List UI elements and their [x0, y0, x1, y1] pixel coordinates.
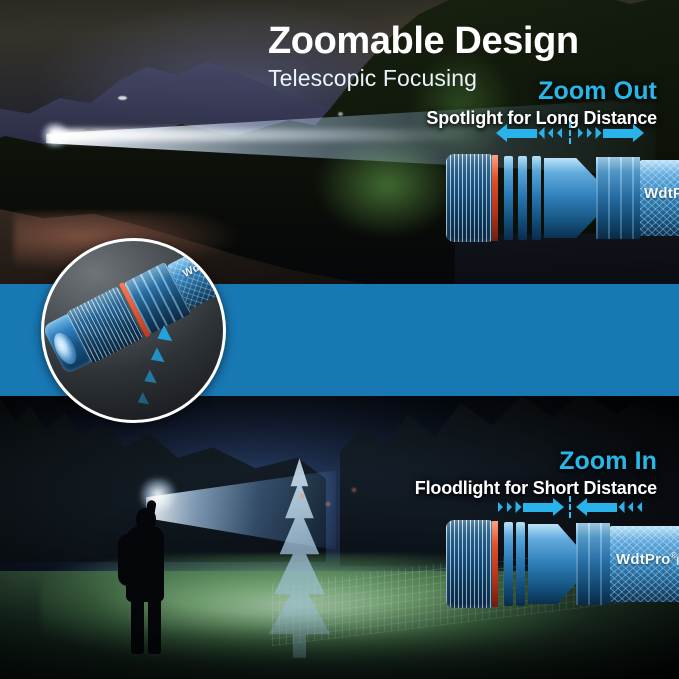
arrow-group-left-out — [470, 120, 569, 146]
chevron-right-icon — [515, 501, 521, 513]
product-feature-image: Zoom Out Spotlight for Long Distance — [0, 0, 679, 679]
chevron-left-icon — [628, 502, 633, 512]
chevron-right-icon — [595, 127, 601, 139]
chevron-left-icon — [548, 128, 553, 138]
flashlight-groove-ring — [532, 156, 541, 240]
flashlight-extended: WdtPro® — [446, 152, 679, 244]
chevron-left-icon — [557, 128, 562, 138]
arrow-tip-right-icon — [553, 498, 564, 516]
flashlight-retracted: WdtPro® IS — [446, 518, 679, 610]
arrow-tip-left-icon — [496, 124, 507, 142]
flashlight-red-accent-ring — [492, 155, 498, 241]
chevron-right-icon — [587, 128, 592, 138]
flashlight-groove-ring — [518, 156, 527, 240]
brand-label: WdtPro® — [644, 185, 679, 202]
zoom-out-arrow-indicator — [470, 120, 670, 146]
chevron-right-icon — [578, 128, 583, 138]
zoom-in-arrow-indicator — [470, 494, 670, 520]
flashlight-zoom-cone — [528, 524, 576, 604]
arrow-group-right-in — [571, 494, 670, 520]
flashlight-groove-ring — [516, 522, 525, 606]
chevron-left-icon — [637, 502, 642, 512]
banner-title: Zoomable Design — [268, 22, 579, 60]
chevron-right-icon — [507, 502, 512, 512]
product-closeup-inset: WdtPro — [41, 238, 226, 423]
arrow-tip-left-icon — [576, 498, 587, 516]
chevron-left-icon — [618, 501, 624, 513]
spotlight-beam-core — [50, 129, 480, 141]
bar-arrow-right — [603, 124, 644, 142]
flashlight-zoom-cone — [544, 158, 596, 238]
chevron-motion-icon — [141, 370, 157, 388]
brand-name: WdtPro — [644, 185, 679, 202]
brand-name: WdtPro — [616, 551, 671, 568]
chevron-motion-icon — [147, 347, 164, 367]
bar-arrow-left — [496, 124, 537, 142]
chevron-motion-icon — [135, 392, 149, 408]
flashlight-barrel-section — [576, 523, 610, 605]
chevron-left-icon — [538, 127, 544, 139]
chevron-right-icon — [498, 502, 503, 512]
arrow-stem-right — [587, 503, 617, 512]
closeup-lens — [49, 329, 80, 367]
bar-arrow-right-in — [523, 498, 564, 516]
flashlight-bezel-knurled — [446, 520, 492, 608]
distant-light-b — [338, 112, 343, 116]
arrow-stem-right — [603, 129, 633, 138]
inset-background: WdtPro — [44, 241, 223, 420]
chevron-motion-icon — [153, 325, 172, 346]
flashlight-red-accent-ring — [492, 521, 498, 607]
flashlight-groove-ring — [504, 156, 513, 240]
arrow-group-left-in — [470, 494, 569, 520]
flashlight-bezel-knurled — [446, 154, 492, 242]
spotlight-beam-origin — [40, 122, 70, 148]
flashlight-barrel-section — [596, 157, 640, 239]
bottom-callout-title: Zoom In — [415, 448, 657, 476]
arrow-stem-left — [523, 503, 553, 512]
bar-arrow-left-in — [576, 498, 617, 516]
flashlight-groove-ring — [504, 522, 513, 606]
arrow-tip-right-icon — [633, 124, 644, 142]
arrow-stem-left — [507, 129, 537, 138]
distant-light-a — [118, 96, 127, 100]
bottom-callout: Zoom In Floodlight for Short Distance — [415, 448, 657, 498]
arrow-group-right-out — [571, 120, 670, 146]
top-callout-title: Zoom Out — [426, 78, 657, 106]
brand-label: WdtPro® — [616, 551, 677, 568]
